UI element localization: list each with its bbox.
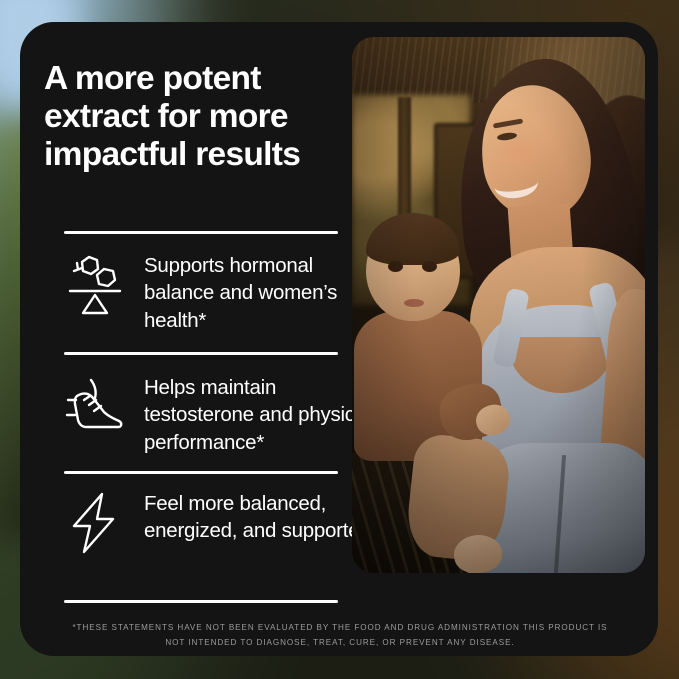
- divider-2: [64, 352, 338, 355]
- divider-1: [64, 231, 338, 234]
- baby-mouth: [404, 299, 424, 307]
- promo-card-stage: A more potent extract for more impactful…: [0, 0, 679, 679]
- baby-eye-left: [388, 261, 403, 272]
- card-content-column: A more potent extract for more impactful…: [44, 38, 344, 175]
- feature-item-testosterone: Helps maintain testosterone and physical…: [64, 372, 379, 456]
- molecule-balance-icon: [64, 250, 126, 320]
- feature-item-hormonal-balance: Supports hormonal balance and women’s he…: [64, 250, 379, 334]
- page-title: A more potent extract for more impactful…: [44, 38, 329, 175]
- benefits-card: A more potent extract for more impactful…: [20, 22, 658, 656]
- divider-4: [64, 600, 338, 603]
- baby-eye-right: [422, 261, 437, 272]
- lightning-bolt-icon: [64, 488, 126, 558]
- fda-disclaimer: *THESE STATEMENTS HAVE NOT BEEN EVALUATE…: [70, 620, 610, 651]
- feature-text: Supports hormonal balance and women’s he…: [144, 250, 379, 334]
- feature-item-energy: Feel more balanced, energized, and suppo…: [64, 488, 379, 558]
- lifestyle-photo: [352, 37, 645, 573]
- feature-text: Feel more balanced, energized, and suppo…: [144, 488, 379, 545]
- feature-text: Helps maintain testosterone and physical…: [144, 372, 379, 456]
- running-shoe-icon: [64, 372, 126, 442]
- divider-3: [64, 471, 338, 474]
